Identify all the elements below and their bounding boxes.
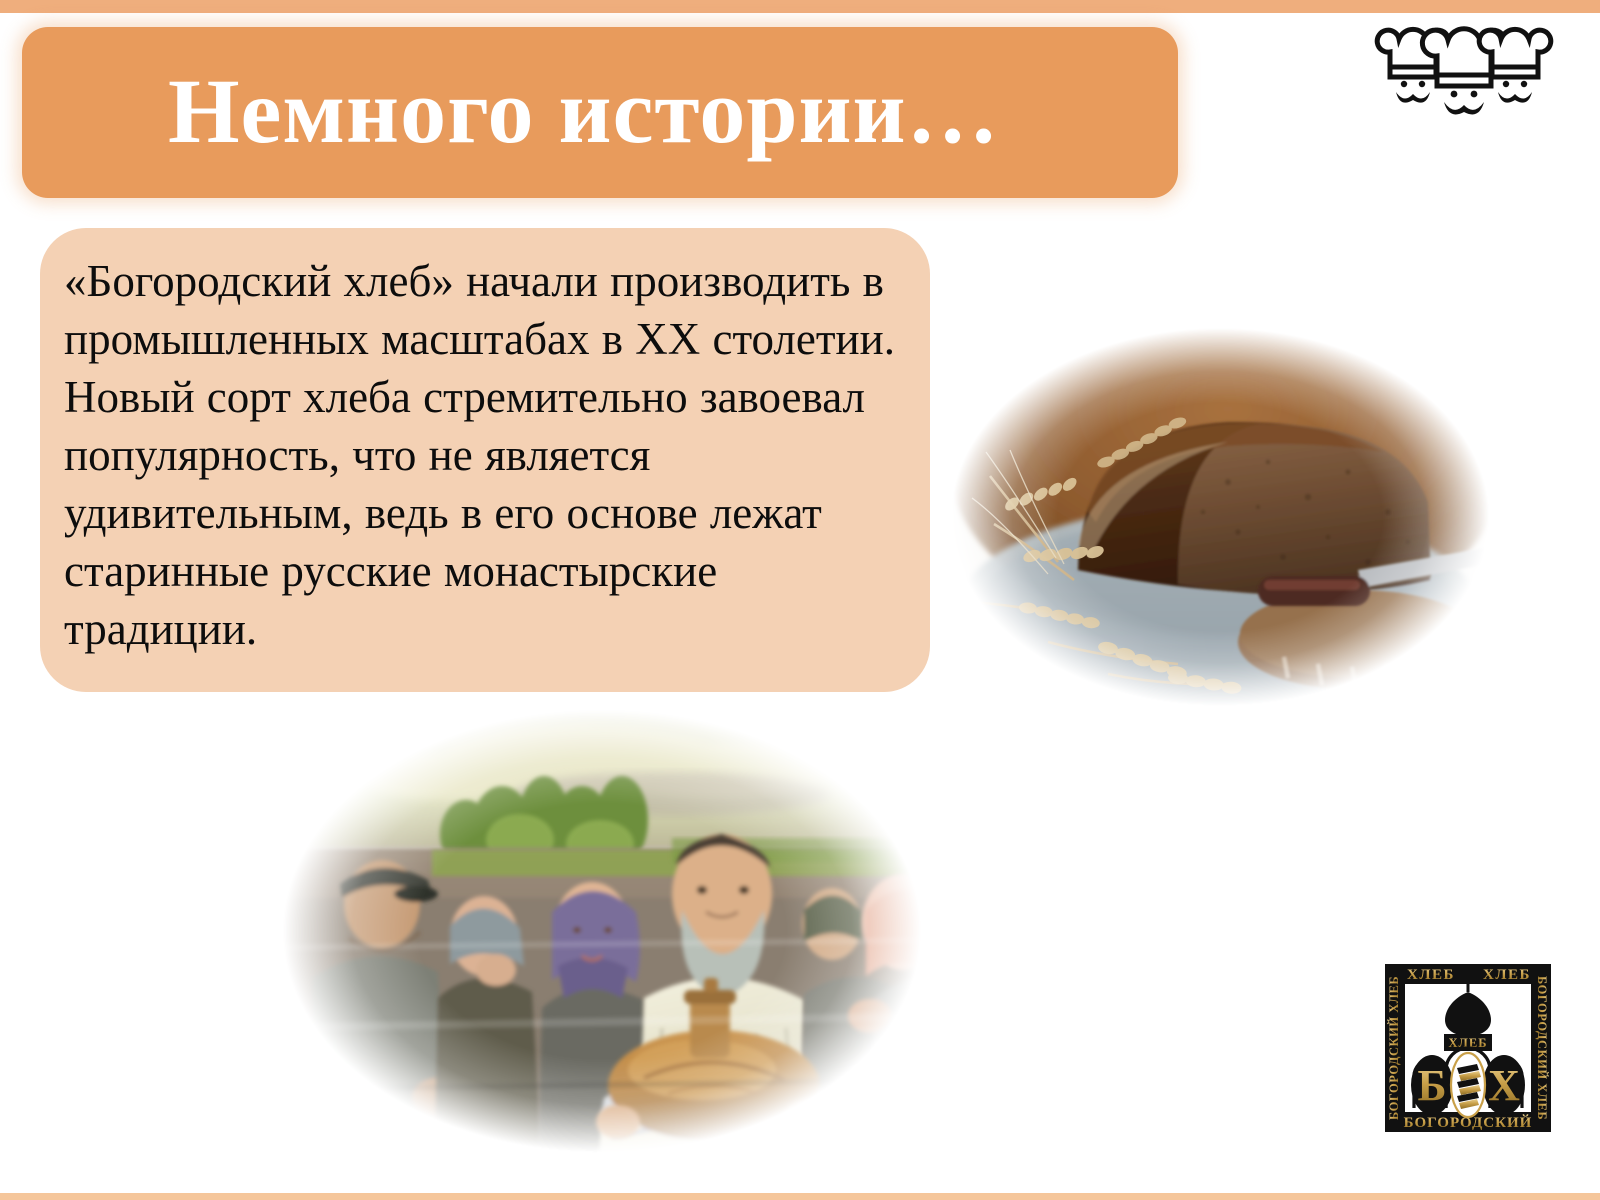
logo-word-right-side: БОГОРОДСКИЙ ХЛЕБ (1535, 976, 1549, 1120)
title-banner: Немного истории… (22, 27, 1178, 198)
bread-photo (928, 312, 1512, 722)
logo-word-left-side: БОГОРОДСКИЙ ХЛЕБ (1387, 976, 1401, 1120)
logo-monogram-h: Х (1488, 1061, 1520, 1110)
bread-and-salt-painting (252, 698, 952, 1164)
bottom-accent-strip (0, 1193, 1600, 1200)
body-text-card: «Богородский хлеб» начали производить в … (40, 228, 930, 692)
bogorodsky-hleb-logo: ХЛЕБ ХЛЕБ БОГОРОДСКИЙ БОГОРОДСКИЙ ХЛЕБ Б… (1371, 948, 1565, 1144)
slide-canvas: Немного истории… (0, 0, 1600, 1200)
page-title: Немного истории… (168, 65, 1000, 157)
logo-monogram-b: Б (1417, 1061, 1446, 1110)
chef-hats-icon (1374, 22, 1554, 116)
top-accent-strip (0, 0, 1600, 13)
body-paragraph: «Богородский хлеб» начали производить в … (64, 252, 902, 658)
logo-word-top-right: ХЛЕБ (1483, 967, 1531, 983)
logo-word-top-left: ХЛЕБ (1407, 967, 1455, 983)
